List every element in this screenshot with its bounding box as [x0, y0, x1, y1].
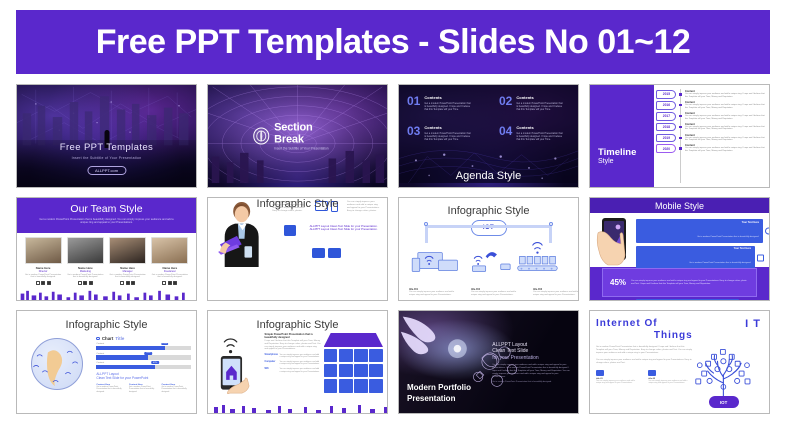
- caption-body: You can simply impress your audience and…: [409, 291, 459, 297]
- mobile-content: Your Text Here Get a modern PowerPoint P…: [590, 213, 769, 267]
- slide-thumbnail-grid: Free PPT Templates Insert the Subtitle o…: [8, 84, 778, 414]
- team-title: Our Team Style: [17, 203, 196, 215]
- iot-body-1: Get a modern PowerPoint Presentation tha…: [596, 346, 693, 355]
- sofa-icon: [369, 364, 383, 378]
- portfolio-title-line1: Modern Portfolio: [407, 382, 471, 393]
- iot-bubbles: title-01 You can simply impress your aud…: [596, 370, 693, 385]
- legend-item: Content Here Get a modern PowerPoint Pre…: [161, 384, 191, 394]
- icon-grid: [324, 349, 383, 393]
- twitter-icon[interactable]: [120, 281, 124, 285]
- timeline-body: You can simply impress your audience and…: [685, 147, 765, 153]
- row-body: Get a modern PowerPoint Presentation tha…: [689, 262, 751, 264]
- agenda-item-heading: Contents: [424, 95, 472, 100]
- facebook-icon[interactable]: [131, 281, 135, 285]
- cover-subtitle: Insert the Subtitle of Your Presentation: [17, 156, 196, 160]
- section-break-subtitle: Insert the Subtitle of Your Presentation: [274, 147, 342, 151]
- bar-chart: Chart Title Content 72% Content: [96, 333, 191, 395]
- smart-home-phone-illustration: [212, 333, 262, 395]
- team-member: Name Here Director Get a modern PowerPoi…: [25, 237, 62, 285]
- step-item: Smartphone You can simply impress your a…: [265, 354, 321, 359]
- team-header: Our Team Style Get a modern PowerPoint P…: [17, 198, 196, 233]
- agenda-item-3: 03 Contents Get a modern PowerPoint Pres…: [407, 125, 472, 141]
- faucet-icon: [354, 349, 368, 363]
- slide-thumbnail-section-break[interactable]: Section Break Insert the Subtitle of You…: [207, 84, 388, 188]
- avatar: [109, 237, 146, 264]
- linkedin-icon[interactable]: [126, 281, 130, 285]
- agenda-item-number: 01: [407, 95, 420, 111]
- chart-title-suffix: Title: [115, 336, 124, 341]
- chart-legend: Content Here Get a modern PowerPoint Pre…: [96, 384, 191, 394]
- chart-link-line2: Clean Text Slide for your PowerPoint: [96, 376, 191, 380]
- member-bio: Get a modern PowerPoint Presentation tha…: [25, 274, 62, 279]
- timeline-entries: 2015 Content You can simply impress your…: [654, 85, 769, 187]
- bar-value: 55%: [145, 352, 153, 355]
- bar-label: Content: [96, 362, 191, 364]
- image-icon: [328, 248, 341, 258]
- agenda-title: Agenda Style: [399, 170, 578, 182]
- bar-fill: [96, 365, 155, 369]
- team-subtitle: Get a modern PowerPoint Presentation tha…: [37, 218, 176, 225]
- legend-body: Get a modern PowerPoint Presentation tha…: [129, 386, 159, 394]
- twitter-icon[interactable]: [36, 281, 40, 285]
- slide-thumbnail-cover[interactable]: Free PPT Templates Insert the Subtitle o…: [16, 84, 197, 188]
- world-globe-illustration: [21, 333, 92, 395]
- facebook-icon[interactable]: [173, 281, 177, 285]
- section-break-art: Section Break Insert the Subtitle of You…: [208, 85, 387, 187]
- timeline-year: 2020: [656, 144, 676, 153]
- step-item: Computer You can simply impress your aud…: [265, 361, 321, 366]
- printer-icon: [284, 225, 296, 236]
- agenda-item-2: 02 Contents Get a modern PowerPoint Pres…: [499, 95, 564, 111]
- person-with-laptop-icon: [212, 201, 269, 267]
- right-footer: Get a modern PowerPoint Presentation tha…: [492, 381, 571, 384]
- team-member: Name Here Marketing Get a modern PowerPo…: [67, 237, 104, 285]
- timeline-body: You can simply impress your audience and…: [685, 137, 765, 143]
- pin-icon: [324, 364, 338, 378]
- agenda-item-body: Get a modern PowerPoint Presentation tha…: [424, 102, 472, 111]
- iot-logo: I T: [745, 318, 761, 330]
- tree-cloud-label: IOT: [720, 400, 727, 405]
- speech-bubble-icon: [648, 370, 656, 377]
- infographic-person-center-link: ALLPPT Layout Clean Text Slide for your …: [310, 225, 381, 232]
- monitor-icon: [757, 254, 764, 261]
- cover-logo: ALLPPT.com: [87, 166, 126, 175]
- smart-home-text: Simple PowerPoint Presentation that is b…: [265, 333, 321, 395]
- chart-bar-row: Content 72%: [96, 343, 191, 350]
- row-heading: Your Text Here: [640, 221, 759, 224]
- timeline-body: You can simply impress your audience and…: [685, 104, 765, 110]
- house-roof: [324, 333, 383, 347]
- portfolio-title-line2: Presentation: [407, 393, 471, 404]
- member-bio: Get a modern PowerPoint Presentation tha…: [109, 274, 146, 279]
- chart-title: Chart Title: [96, 336, 191, 341]
- tree-cloud-badge: IOT: [709, 396, 739, 408]
- wrench-icon: [324, 349, 338, 363]
- step-body: You can simply impress your audience and…: [280, 354, 321, 359]
- bubble-body: You can simply impress your audience and…: [596, 380, 640, 385]
- agenda-item-4: 04 Contents Get a modern PowerPoint Pres…: [499, 125, 564, 141]
- slide-thumbnail-portfolio[interactable]: Modern Portfolio Presentation ALLPPT Lay…: [398, 310, 579, 414]
- globe-icon: [253, 128, 269, 145]
- calculator-icon: [339, 349, 353, 363]
- avatar: [25, 237, 62, 264]
- agenda-item-body: Get a modern PowerPoint Presentation tha…: [516, 102, 564, 111]
- mobile-title: Mobile Style: [655, 201, 704, 211]
- chart-bar-row: Content 55%: [96, 353, 191, 360]
- page-title: Free PPT Templates - Slides No 01~12: [96, 23, 691, 62]
- timeline-title-panel: Timeline Style: [590, 85, 654, 187]
- iot-body-2: You can simply impress your audience and…: [596, 359, 693, 365]
- cover-art: Free PPT Templates Insert the Subtitle o…: [17, 85, 196, 187]
- media-icon-group: [310, 248, 344, 258]
- thermometer-icon: [339, 379, 353, 393]
- step-label: Smartphone: [265, 354, 278, 356]
- agenda-item-heading: Contents: [516, 95, 564, 100]
- step-item: Wifi You can simply impress your audienc…: [265, 368, 321, 373]
- portfolio-title: Modern Portfolio Presentation: [407, 382, 471, 404]
- agenda-item-number: 02: [499, 95, 512, 111]
- play-icon: [312, 248, 325, 258]
- timeline-marker: [679, 115, 682, 118]
- stat-value: 45%: [610, 278, 626, 287]
- team-member: Name Here Freelancer Get a modern PowerP…: [151, 237, 188, 285]
- page-title-banner: Free PPT Templates - Slides No 01~12: [16, 10, 770, 74]
- window-icon: [369, 349, 383, 363]
- legend-body: Get a modern PowerPoint Presentation tha…: [161, 386, 191, 394]
- avatar: [67, 237, 104, 264]
- bed-icon: [354, 364, 368, 378]
- timeline-marker: [679, 126, 682, 129]
- timeline-year: 2018: [656, 123, 676, 132]
- lead-heading: Simple PowerPoint Presentation that is b…: [265, 333, 321, 339]
- timeline-title-line2: Style: [598, 158, 636, 165]
- infographic-chart-title: Infographic Style: [17, 319, 196, 331]
- iot-caption-3: title-003 You can simply impress your au…: [533, 289, 579, 297]
- section-break-title: Section Break: [274, 122, 342, 146]
- agenda-item-heading: Contents: [516, 125, 564, 130]
- chart-title-prefix: Chart: [102, 336, 113, 341]
- iot-tree-illustration: IOT: [684, 345, 763, 409]
- templates-preview-page: Free PPT Templates - Slides No 01~12: [0, 0, 786, 445]
- timeline-year: 2015: [656, 90, 676, 99]
- stat-card: 45% You can simply impress your audience…: [602, 268, 757, 297]
- step-label: Wifi: [265, 368, 278, 370]
- member-role: Director: [25, 270, 62, 273]
- bar-track: 55%: [96, 355, 191, 359]
- caption-body: You can simply impress your audience and…: [533, 291, 579, 297]
- timeline-entry: 2016 Content You can simply impress your…: [656, 101, 765, 110]
- iot-caption-1: title-001 You can simply impress your au…: [409, 289, 459, 297]
- linkedin-icon[interactable]: [168, 281, 172, 285]
- smart-home-icon-grid: [324, 333, 383, 395]
- chart-bar-row: Content 62%: [96, 362, 191, 369]
- legend-item: Content Here Get a modern PowerPoint Pre…: [129, 384, 159, 394]
- twitter-icon[interactable]: [162, 281, 166, 285]
- timeline-body: You can simply impress your audience and…: [685, 115, 765, 121]
- timeline-marker: [679, 104, 682, 107]
- iot-devices-illustration: [399, 198, 578, 296]
- timeline-year: 2019: [656, 134, 676, 143]
- caption-body: You can simply impress your audience and…: [471, 291, 521, 297]
- team-member: Name Here Manager Get a modern PowerPoin…: [109, 237, 146, 285]
- member-role: Freelancer: [151, 270, 188, 273]
- social-links[interactable]: [67, 281, 104, 285]
- slide-thumbnail-mobile[interactable]: Mobile Style Your Text Here Get a modern…: [589, 197, 770, 301]
- step-label: Computer: [265, 361, 278, 363]
- member-bio: Get a modern PowerPoint Presentation tha…: [151, 274, 188, 279]
- agenda-art: 01 Contents Get a modern PowerPoint Pres…: [399, 85, 578, 187]
- hand-holding-phone-icon: [596, 217, 636, 269]
- step-body: You can simply impress your audience and…: [280, 368, 321, 373]
- row-heading: Your Text Here: [640, 300, 735, 301]
- globe-wifi-nodes-icon: [21, 333, 92, 395]
- agenda-item-number: 04: [499, 125, 512, 141]
- legend-body: Get a modern PowerPoint Presentation tha…: [96, 386, 126, 394]
- mobile-stat-area: 45% You can simply impress your audience…: [590, 265, 769, 300]
- tool-icon: [339, 364, 353, 378]
- business-person-illustration: [212, 201, 269, 267]
- agenda-item-1: 01 Contents Get a modern PowerPoint Pres…: [407, 95, 472, 111]
- member-bio: Get a modern PowerPoint Presentation tha…: [67, 274, 104, 279]
- speech-bubble-icon: [596, 370, 604, 377]
- legend-item: Content Here Get a modern PowerPoint Pre…: [96, 384, 126, 394]
- agenda-item-body: Get a modern PowerPoint Presentation tha…: [516, 132, 564, 141]
- twitter-icon[interactable]: [78, 281, 82, 285]
- timeline-year: 2017: [656, 112, 676, 121]
- bar-value: 62%: [151, 361, 159, 364]
- iot-logo-text: I T: [745, 318, 761, 330]
- timeline-title-line1: Timeline: [598, 148, 636, 158]
- city-skyline-icon: [17, 289, 191, 300]
- ruler-icon: [324, 379, 338, 393]
- timeline-entry: 2017 Content You can simply impress your…: [656, 112, 765, 121]
- timeline-marker: [679, 93, 682, 96]
- chart-bullet-icon: [96, 337, 100, 341]
- row-heading: Your Text Here: [640, 247, 751, 250]
- timeline-body: You can simply impress your audience and…: [685, 93, 765, 99]
- slide-thumbnail-timeline[interactable]: Timeline Style 2015 Content You can simp…: [589, 84, 770, 188]
- hand-tapping-phone-icon: [212, 333, 262, 395]
- right-heading-2: Clean Text Slide: [492, 348, 571, 355]
- right-heading-3: for your Presentation: [492, 355, 571, 362]
- iot-title-line1: Internet Of: [596, 318, 693, 330]
- mobile-row[interactable]: Your Text Here Get a modern PowerPoint P…: [636, 219, 763, 243]
- social-links[interactable]: [109, 281, 146, 285]
- portfolio-right-text: ALLPPT Layout Clean Text Slide for your …: [492, 342, 571, 384]
- team-members: Name Here Director Get a modern PowerPoi…: [17, 233, 196, 285]
- bar-fill: [96, 346, 164, 350]
- iot-text-column: Internet Of Things Get a modern PowerPoi…: [596, 318, 693, 385]
- slide-thumbnail-internet-of-things[interactable]: Internet Of Things Get a modern PowerPoi…: [589, 310, 770, 414]
- bar-fill: [96, 355, 148, 359]
- timeline-entry: 2019 Content You can simply impress your…: [656, 134, 765, 143]
- iot-caption-2: title-002 You can simply impress your au…: [471, 289, 521, 297]
- printer-icon-group: [272, 225, 306, 236]
- slide-thumbnail-infographic-iot[interactable]: Infographic Style IOT: [398, 197, 579, 301]
- linkedin-icon[interactable]: [41, 281, 45, 285]
- bar-track: 62%: [96, 365, 191, 369]
- social-links[interactable]: [151, 281, 188, 285]
- social-links[interactable]: [25, 281, 62, 285]
- slide-thumbnail-smart-home[interactable]: Infographic Style: [207, 310, 388, 414]
- agenda-item-body: Get a modern PowerPoint Presentation tha…: [424, 132, 472, 141]
- timeline-entry: 2020 Content You can simply impress your…: [656, 144, 765, 153]
- smart-home-title: Infographic Style: [208, 319, 387, 331]
- right-body: You can simply impress your audience and…: [492, 364, 571, 378]
- agenda-item-heading: Contents: [424, 125, 472, 130]
- city-skyline-icon: [208, 404, 388, 413]
- bar-value: 72%: [161, 343, 169, 346]
- bar-track: 72%: [96, 346, 191, 350]
- gear-icon: [765, 228, 770, 235]
- slide-thumbnail-agenda[interactable]: 01 Contents Get a modern PowerPoint Pres…: [398, 84, 579, 188]
- right-heading-1: ALLPPT Layout: [492, 342, 571, 349]
- member-role: Marketing: [67, 270, 104, 273]
- cover-title: Free PPT Templates: [17, 142, 196, 153]
- bubble-item: title-01 You can simply impress your aud…: [596, 370, 640, 385]
- timeline-marker: [679, 137, 682, 140]
- timeline-body: You can simply impress your audience and…: [685, 126, 765, 132]
- agenda-item-number: 03: [407, 125, 420, 141]
- timeline-year: 2016: [656, 101, 676, 110]
- mobile-title-bar: Mobile Style: [590, 198, 769, 213]
- section-break-heading-group: Section Break Insert the Subtitle of You…: [253, 122, 343, 151]
- mail-icon: [369, 379, 383, 393]
- lead-body: I hope and I believe that this Template …: [265, 340, 321, 351]
- timeline-entry: 2018 Content You can simply impress your…: [656, 123, 765, 132]
- facebook-icon[interactable]: [89, 281, 93, 285]
- timeline-entry: 2015 Content You can simply impress your…: [656, 90, 765, 99]
- avatar: [151, 237, 188, 264]
- row-body: Get a modern PowerPoint Presentation tha…: [697, 236, 759, 238]
- iot-title-line2: Things: [596, 330, 693, 342]
- step-body: You can simply impress your audience and…: [280, 361, 321, 366]
- member-role: Manager: [109, 270, 146, 273]
- slide-thumbnail-team[interactable]: Our Team Style Get a modern PowerPoint P…: [16, 197, 197, 301]
- slide-thumbnail-infographic-chart[interactable]: Infographic Style: [16, 310, 197, 414]
- bar-label: Content: [96, 343, 191, 345]
- stat-text: You can simply impress your audience and…: [631, 280, 749, 286]
- timeline-marker: [679, 147, 682, 150]
- linkedin-icon[interactable]: [83, 281, 87, 285]
- slide-thumbnail-infographic-person[interactable]: Infographic Style: [207, 197, 388, 301]
- door-icon: [354, 379, 368, 393]
- facebook-icon[interactable]: [47, 281, 51, 285]
